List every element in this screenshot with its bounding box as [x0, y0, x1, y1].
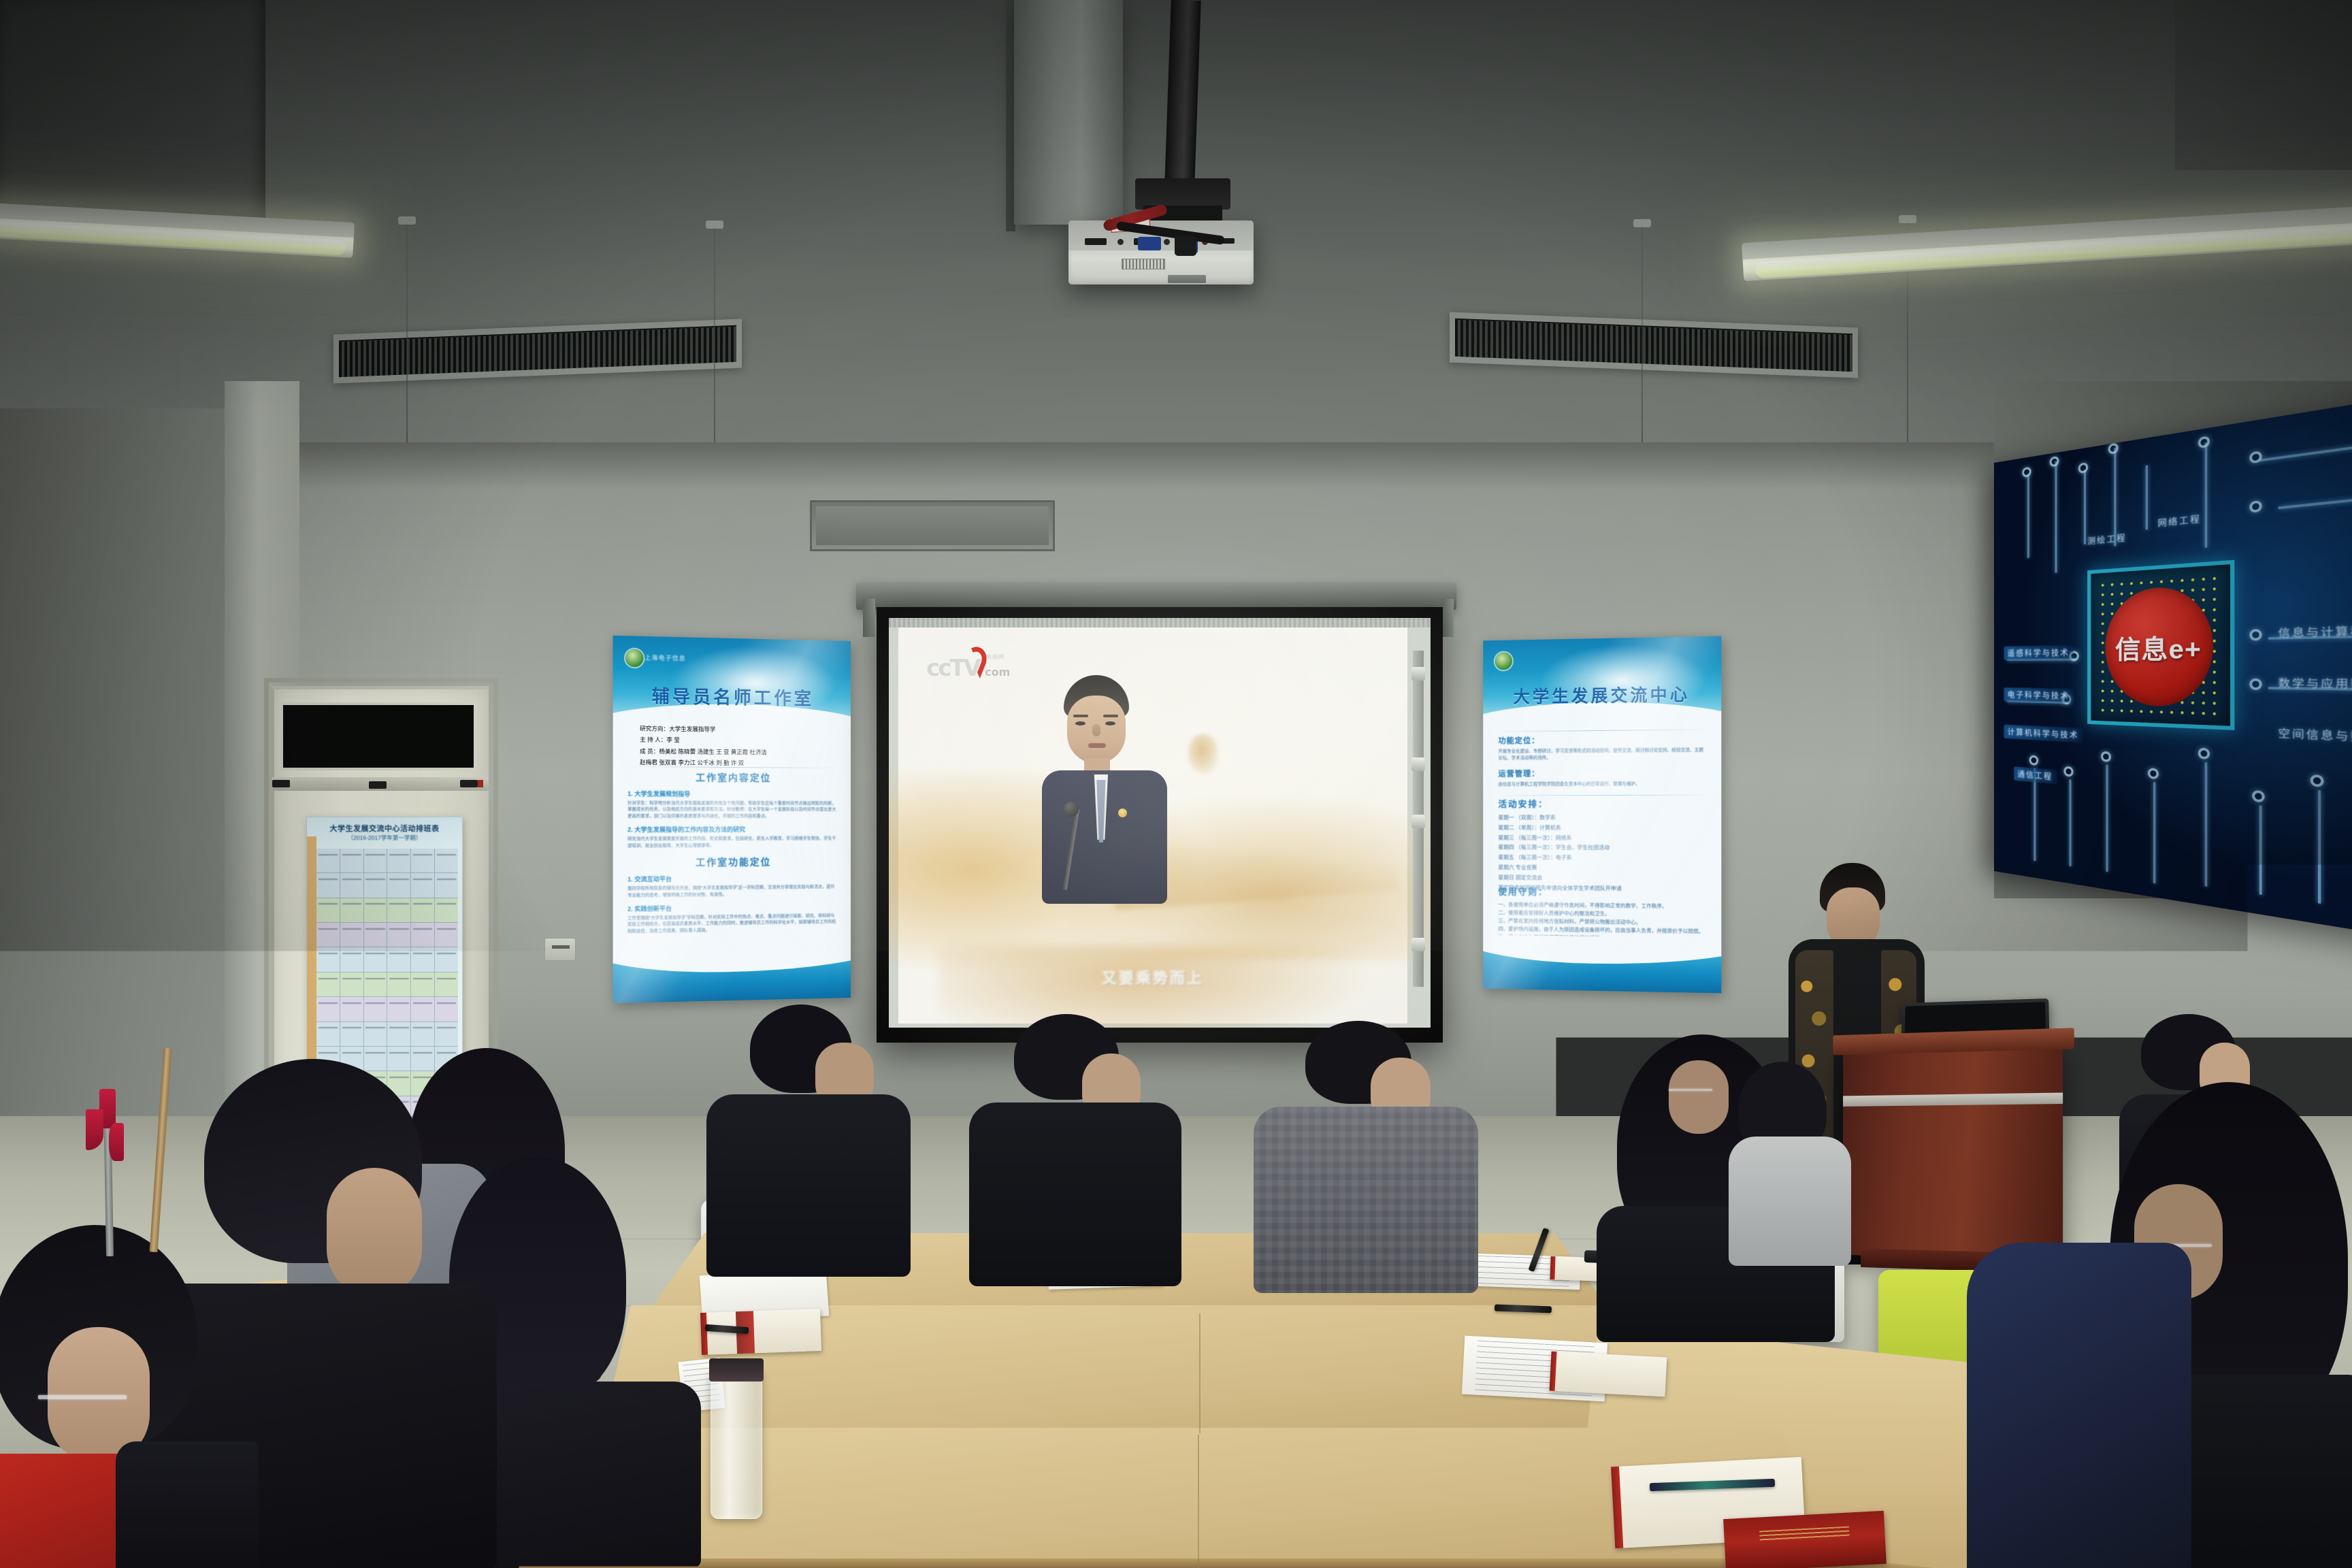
person-torso [1729, 1137, 1851, 1266]
screen-bracket [1441, 599, 1454, 637]
schedule-cell [387, 898, 410, 922]
poster-left-item4-body: 工作室围绕“大学生发展指导学”学科范畴，针对实际工作中的热点、难点、重点问题进行… [627, 913, 837, 935]
table-seam [1198, 1435, 1199, 1568]
poster-schedule-row: 星期一 （双周）：数学系 [1498, 813, 1706, 823]
poster-left-item1-body: 针对学生：科学地分析当代大学生面临发展的共性及个性问题，帮助学生在每个重要时间节… [627, 800, 837, 820]
schedule-cell [387, 1022, 410, 1046]
schedule-cell [340, 1022, 363, 1046]
schedule-cell [435, 923, 458, 947]
door-latch-indicator [478, 780, 483, 787]
projected-subtitle: 又要乘势而上 [898, 966, 1407, 988]
schedule-cell [411, 947, 434, 971]
banner-label-communication-eng: 通信工程 [2014, 766, 2057, 784]
ceiling-soffit-right [2175, 0, 2352, 170]
banner-label-computer-sci: 计算机科学与技术 [2004, 725, 2082, 743]
poster-left-item2-body: 研究当代大学生发展需要开展的工作内容、形式和要求，包括研究、新生入学教育、学习困… [627, 835, 837, 849]
bottle-cap[interactable] [709, 1358, 764, 1382]
door-latch[interactable] [460, 780, 478, 787]
poster-left-item4-title: 2. 实践创新平台 [627, 902, 837, 913]
schedule-cell [435, 997, 458, 1021]
wall-banner-information-eplus: 测绘工程 网络工程 遥感科学与技术 电子科学与技术 计算机科学与技术 通信工程 … [1994, 393, 2352, 942]
schedule-cell [387, 997, 410, 1021]
schedule-cell [364, 898, 387, 922]
door-latch[interactable] [369, 781, 387, 789]
schedule-cell [411, 898, 434, 922]
projector-lens [1168, 275, 1206, 283]
schedule-cell [435, 1022, 458, 1046]
eyeglasses [38, 1395, 127, 1399]
projection-screen-surface: ccTV 央视网 com [889, 618, 1431, 1028]
cctv-logo-chinese: 央视网 [986, 653, 1004, 661]
person-collar [116, 1441, 259, 1568]
audience-person [1715, 1062, 1865, 1266]
schedule-cell [411, 849, 434, 872]
schedule-cell [435, 849, 458, 872]
poster-right-title: 大学生发展交流中心 [1483, 681, 1721, 708]
ceiling-recess-panel [810, 500, 1055, 551]
schedule-cell [316, 947, 340, 971]
schedule-cell [387, 947, 410, 971]
speaker-mouth [1088, 743, 1106, 748]
screen-bracket [863, 599, 875, 637]
schedule-cell [340, 947, 363, 971]
schedule-cell [435, 873, 458, 897]
speaker-lapel-pin [1118, 808, 1127, 817]
schedule-cell [340, 973, 363, 996]
schedule-cell [340, 873, 363, 897]
wall-power-outlet[interactable] [544, 938, 576, 961]
door-latch[interactable] [272, 780, 290, 787]
poster-left-item3-title: 1. 交流互动平台 [627, 873, 837, 883]
poster-left-item1-title: 1. 大学生发展规划指导 [627, 789, 837, 798]
poster-schedule-row: 星期三 （每三周一次）：网络系 [1498, 833, 1706, 844]
projected-video-frame: ccTV 央视网 com [898, 627, 1407, 1024]
poster-counselor-studio: 上海电子信息 辅导员名师工作室 研究方向：大学生发展指导学 主 持 人：李 莹 … [613, 636, 851, 1003]
schedule-cell [411, 997, 434, 1021]
poster-right-body-function: 开展专业化建设、专题研讨，学习交流等形式的活动空间，提供交流、探讨和讨论空间、经… [1498, 747, 1706, 762]
schedule-cell [340, 997, 363, 1021]
poster-left-title: 辅导员名师工作室 [613, 681, 851, 710]
poster-left-item2-title: 2. 大学生发展指导的工作内容及方法的研究 [627, 825, 837, 834]
poster-footer-wave [1483, 947, 1721, 993]
speaker-nose [1092, 724, 1100, 736]
poster-schedule-row: 星期五 （每三周一次）：电子系 [1498, 853, 1706, 864]
schedule-cell [411, 923, 434, 947]
banner-chip-graphic: 信息e+ [2087, 560, 2234, 730]
screen-edge-clip [1411, 938, 1425, 951]
glass-water-bottle[interactable] [710, 1369, 762, 1519]
projector-vent-grille [1122, 259, 1165, 269]
poster-right-schedule-list: 星期一 （双周）：数学系星期二 （单周）：计算机系星期三 （每三周一次）：网络系… [1498, 813, 1706, 895]
schedule-cell [411, 1022, 434, 1046]
slide-ink-blob [1188, 734, 1218, 774]
schedule-cell [316, 1022, 340, 1046]
person-head [327, 1168, 422, 1297]
schedule-cell [411, 973, 434, 996]
schedule-subtitle: （2016-2017学年第一学期） [307, 834, 462, 842]
schedule-cell [316, 997, 340, 1021]
screen-edge-clip [1411, 815, 1425, 828]
person-torso [1967, 1243, 2191, 1568]
screen-top-band [889, 618, 1431, 627]
banner-seal-text: 信息e+ [2115, 627, 2202, 666]
audience-person [979, 1014, 1176, 1286]
schedule-cell [364, 973, 387, 996]
poster-left-item3-body: 面向学校所有院系的辅导员开放，围绕“大学生发展指导学”这一学科范畴，交流共分享理… [627, 884, 837, 899]
schedule-cell [364, 849, 387, 872]
audience-person [1967, 1243, 2191, 1568]
cctv-logo-domain: com [985, 666, 1010, 679]
audience-person [0, 1225, 272, 1568]
person-torso [706, 1094, 911, 1277]
projected-speaker-figure [1046, 675, 1162, 900]
audience-person [1262, 1021, 1473, 1293]
schedule-cell [340, 849, 363, 872]
poster-right-heading-function: 功能定位： [1498, 733, 1706, 746]
podium-microphone-head [1064, 802, 1079, 817]
screen-edge-clip [1411, 757, 1425, 771]
poster-right-body-operations: 由信息与计算机工程学院学院团委负责本中心的日常运行、管理与维护。 [1498, 781, 1706, 788]
poster-right-heading-operations: 运营管理： [1498, 767, 1706, 779]
schedule-cell [316, 973, 340, 996]
schedule-cell [316, 923, 340, 947]
banner-label-math-applied: 数学与应用数学 [2278, 674, 2352, 692]
poster-schedule-row: 星期四 （每三周一次）：学生会、学生社团活动 [1498, 843, 1706, 854]
ceiling-soffit-left [0, 0, 265, 225]
audience-person [713, 1004, 904, 1277]
schedule-cell [364, 1022, 387, 1046]
person-torso [1254, 1107, 1478, 1293]
banner-label-surveying: 测绘工程 [2087, 532, 2127, 547]
schedule-cell [387, 873, 410, 897]
brush-head [109, 1123, 124, 1161]
schedule-cell [364, 873, 387, 897]
schedule-cell [411, 873, 434, 897]
poster-left-section2-heading: 工作室功能定位 [627, 855, 837, 870]
schedule-cell [364, 923, 387, 947]
banner-label-network-eng: 网络工程 [2157, 512, 2201, 529]
poster-right-heading-rules: 使用守则： [1498, 884, 1706, 899]
banner-label-remote-sensing: 遥感科学与技术 [2004, 645, 2074, 660]
university-emblem-icon [625, 649, 643, 667]
schedule-cell [387, 973, 410, 996]
poster-schedule-row: 星期二 （单周）：计算机系 [1498, 823, 1706, 834]
banner-label-info-computing: 信息与计算科学 [2278, 621, 2352, 640]
schedule-cell [435, 973, 458, 996]
schedule-cell [387, 923, 410, 947]
schedule-cell [387, 849, 410, 872]
poster-left-section1-heading: 工作室内容定位 [627, 770, 837, 785]
red-book[interactable] [1723, 1511, 1886, 1568]
schedule-cell [364, 997, 387, 1021]
schedule-title: 大学生发展交流中心活动排班表 [307, 823, 462, 834]
meeting-room-photo: 测绘工程 网络工程 遥感科学与技术 电子科学与技术 计算机科学与技术 通信工程 … [0, 0, 2352, 1568]
person-torso [969, 1102, 1181, 1286]
projection-screen-housing [856, 583, 1456, 610]
schedule-cell [435, 898, 458, 922]
poster-logo-text: 上海电子信息 [644, 653, 686, 663]
projector-cable-boot [1175, 235, 1196, 256]
screen-edge-clip [1411, 667, 1425, 681]
banner-label-electronic-sci: 电子科学与技术 [2004, 687, 2074, 703]
projector-mount-bracket [1135, 178, 1230, 210]
poster-right-heading-schedule: 活动安排： [1498, 797, 1706, 810]
schedule-cell [340, 923, 363, 947]
poster-student-dev-center: 大学生发展交流中心 功能定位： 开展专业化建设、专题研讨，学习交流等形式的活动空… [1483, 636, 1721, 994]
schedule-cell [340, 898, 363, 922]
projector-vga-connector [1138, 237, 1161, 250]
poster-footer-wave [613, 955, 851, 1003]
notebook[interactable] [1550, 1352, 1667, 1397]
cctv-logo: ccTV 央视网 com [926, 645, 1028, 687]
schedule-cell [316, 873, 340, 897]
projection-screen: ccTV 央视网 com [877, 607, 1443, 1043]
door-transom-window [280, 702, 476, 770]
banner-label-spatial-info: 空间信息与数字技术 [2278, 725, 2352, 747]
schedule-cell [435, 947, 458, 971]
ceiling-beam [1014, 0, 1123, 225]
schedule-cell [316, 849, 340, 872]
schedule-cell [364, 947, 387, 971]
table-seam [1199, 1313, 1200, 1433]
eyeglasses [1669, 1089, 1712, 1091]
university-emblem-icon [1494, 652, 1512, 670]
schedule-cell [316, 898, 340, 922]
